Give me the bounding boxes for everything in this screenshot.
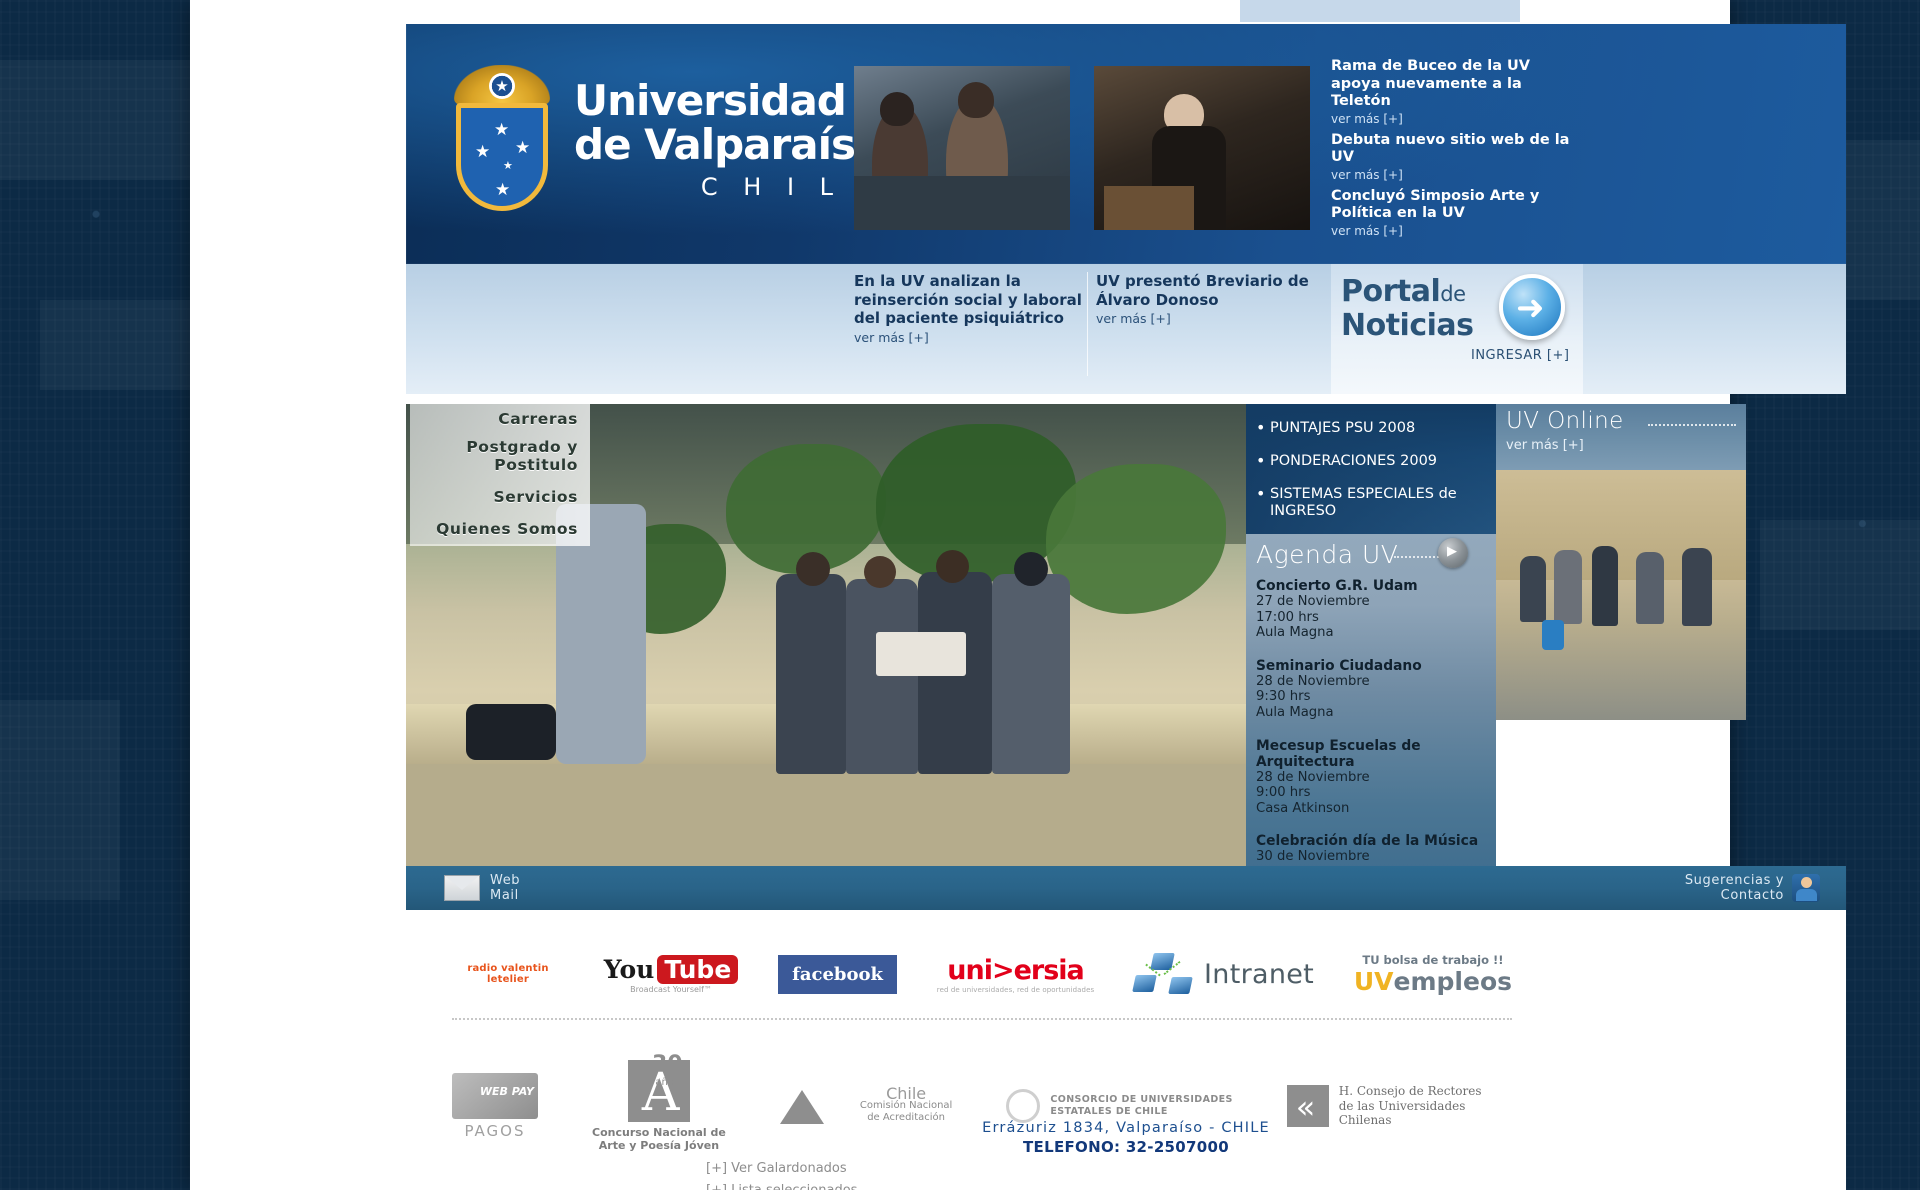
- consorcio-universidades-logo[interactable]: CONSORCIO DE UNIVERSIDADES ESTATALES DE …: [1006, 1089, 1232, 1123]
- uv-online-photo[interactable]: [1496, 470, 1746, 720]
- contact-line-1: Sugerencias y: [1685, 873, 1784, 888]
- arrow-right-icon[interactable]: [1499, 274, 1565, 340]
- webmail-line-1: Web: [490, 873, 520, 888]
- feature-title: En la UV analizan la reinserción social …: [854, 272, 1089, 328]
- event-place: Aula Magna: [1256, 705, 1486, 721]
- psu-links-panel: PUNTAJES PSU 2008 PONDERACIONES 2009 SIS…: [1246, 404, 1496, 534]
- hero-photo-students[interactable]: Carreras Postgrado y Postitulo Servicios…: [406, 404, 1246, 866]
- contact-line-2: Contacto: [1685, 888, 1784, 903]
- youtube-tube-text: Tube: [657, 955, 738, 984]
- event-place: Aula Magna: [1256, 625, 1486, 641]
- portal-title-de: de: [1440, 282, 1465, 306]
- intranet-label: Intranet: [1204, 959, 1314, 990]
- universia-wordmark: uni>ersia: [937, 955, 1094, 986]
- event-date: 28 de Noviembre: [1256, 674, 1486, 690]
- youtube-logo[interactable]: You Tube Broadcast Yourself™: [604, 955, 739, 994]
- rectores-caption-1: H. Consejo de Rectores: [1339, 1084, 1482, 1099]
- agenda-event[interactable]: Mecesup Escuelas de Arquitectura 28 de N…: [1246, 738, 1496, 817]
- uvempleos-empleos: empleos: [1394, 967, 1512, 996]
- nav-item-postgrado[interactable]: Postgrado y Postitulo: [410, 428, 590, 474]
- agenda-event[interactable]: Concierto G.R. Udam 27 de Noviembre 17:0…: [1246, 578, 1496, 641]
- uv-online-panel[interactable]: UV Online ver más [+]: [1496, 404, 1746, 470]
- feature-item-reinsercion[interactable]: En la UV analizan la reinserción social …: [854, 272, 1089, 345]
- cna-caption: Chile Comisión Nacional de Acreditación: [860, 1088, 953, 1124]
- event-date: 30 de Noviembre: [1256, 849, 1486, 865]
- radio-valentin-letelier-logo[interactable]: radio valentin letelier: [452, 952, 564, 996]
- nav-item-servicios[interactable]: Servicios: [410, 474, 590, 506]
- universia-logo[interactable]: uni>ersia red de universidades, red de o…: [937, 955, 1094, 994]
- phone-line: TELEFONO: 32-2507000: [406, 1138, 1846, 1156]
- radio-logo-text: radio valentin letelier: [452, 963, 564, 985]
- agenda-event[interactable]: Seminario Ciudadano 28 de Noviembre 9:30…: [1246, 658, 1496, 721]
- site-header: ★ ★ ★ ★ ★ Universidad de Valparaíso C H …: [406, 24, 1846, 290]
- agenda-header: Agenda UV: [1246, 534, 1496, 578]
- portal-title-main: Portal: [1341, 274, 1440, 309]
- headline-more-link[interactable]: ver más [+]: [1331, 112, 1581, 126]
- event-name: Seminario Ciudadano: [1256, 658, 1486, 674]
- site-page: ★ ★ ★ ★ ★ Universidad de Valparaíso C H …: [190, 0, 1730, 1190]
- header-photo-speaker[interactable]: [1094, 66, 1310, 230]
- network-icon: [1134, 953, 1192, 995]
- backdrop-block: [0, 700, 120, 900]
- feature-title: UV presentó Breviario de Álvaro Donoso: [1096, 272, 1331, 309]
- support-agent-icon: [1792, 874, 1820, 902]
- event-name: Mecesup Escuelas de Arquitectura: [1256, 738, 1486, 770]
- event-time: 9:30 hrs: [1256, 689, 1486, 705]
- address-line: Errázuriz 1834, Valparaíso - CHILE: [406, 1120, 1846, 1136]
- feature-more-link[interactable]: ver más [+]: [854, 330, 1089, 345]
- uvempleos-tagline: TU bolsa de trabajo !!: [1354, 953, 1512, 967]
- portal-noticias-panel[interactable]: Portalde Noticias INGRESAR [+]: [1331, 264, 1583, 394]
- youtube-you-text: You: [604, 955, 655, 984]
- webpay-icon: [452, 1073, 538, 1119]
- headline-item[interactable]: Concluyó Simposio Arte y Política en la …: [1331, 188, 1581, 238]
- uvempleos-logo[interactable]: TU bolsa de trabajo !! UVempleos: [1354, 953, 1512, 996]
- link-ver-galardonados[interactable]: [+] Ver Galardonados: [706, 1158, 857, 1180]
- headline-title: Rama de Buceo de la UV apoya nuevamente …: [1331, 58, 1581, 111]
- event-date: 27 de Noviembre: [1256, 594, 1486, 610]
- facebook-logo[interactable]: facebook: [778, 955, 897, 994]
- feature-more-link[interactable]: ver más [+]: [1096, 311, 1331, 326]
- webmail-line-2: Mail: [490, 888, 520, 903]
- headline-title: Debuta nuevo sitio web de la UV: [1331, 132, 1581, 167]
- partner-logo-row: radio valentin letelier You Tube Broadca…: [452, 952, 1512, 996]
- footer-divider-top: [452, 1018, 1512, 1020]
- consorcio-caption: CONSORCIO DE UNIVERSIDADES ESTATALES DE …: [1050, 1094, 1232, 1118]
- webmail-label: Web Mail: [490, 873, 520, 903]
- headline-list: Rama de Buceo de la UV apoya nuevamente …: [1331, 58, 1581, 244]
- event-date: 28 de Noviembre: [1256, 770, 1486, 786]
- concurso-anniversary-badge: 30 años: [652, 1056, 683, 1092]
- badge-sub: años: [652, 1074, 683, 1092]
- uv-online-more-link[interactable]: ver más [+]: [1506, 438, 1584, 453]
- logo-line-3: C H I L E: [574, 173, 883, 201]
- site-logo-text: Universidad de Valparaíso C H I L E: [574, 79, 883, 201]
- webmail-link[interactable]: Web Mail: [444, 866, 520, 910]
- portal-title: Portalde Noticias: [1341, 276, 1474, 341]
- portal-title-second: Noticias: [1341, 308, 1474, 343]
- psu-link-sistemas-especiales[interactable]: SISTEMAS ESPECIALES de INGRESO: [1256, 486, 1486, 520]
- footer-link-list: [+] Ver Galardonados [+] Lista seleccion…: [706, 1158, 857, 1190]
- play-icon[interactable]: [1438, 538, 1468, 568]
- headline-title: Concluyó Simposio Arte y Política en la …: [1331, 188, 1581, 223]
- footer-address: Errázuriz 1834, Valparaíso - CHILE TELEF…: [406, 1120, 1846, 1156]
- youtube-tagline: Broadcast Yourself™: [630, 985, 712, 994]
- uvempleos-wordmark: UVempleos: [1354, 967, 1512, 996]
- rectores-caption-2: de las Universidades: [1339, 1099, 1482, 1114]
- contact-link[interactable]: Sugerencias y Contacto: [1685, 866, 1820, 910]
- browser-tab-strip: [1240, 0, 1520, 22]
- psu-link-puntajes[interactable]: PUNTAJES PSU 2008: [1256, 420, 1486, 437]
- hero-ground: [406, 764, 1246, 866]
- envelope-icon: [444, 875, 480, 901]
- event-name: Celebración día de la Música: [1256, 833, 1486, 849]
- logo-line-2: de Valparaíso: [574, 123, 883, 167]
- main-content: Carreras Postgrado y Postitulo Servicios…: [406, 404, 1846, 866]
- primary-nav: Carreras Postgrado y Postitulo Servicios…: [410, 404, 590, 546]
- uv-online-title: UV Online: [1506, 408, 1624, 434]
- cna-caption-1: Chile: [860, 1088, 953, 1100]
- nav-item-carreras[interactable]: Carreras: [410, 404, 590, 428]
- backdrop-block: [40, 300, 190, 390]
- consorcio-caption-1: CONSORCIO DE UNIVERSIDADES: [1050, 1094, 1232, 1106]
- event-place: Casa Atkinson: [1256, 801, 1486, 817]
- headline-more-link[interactable]: ver más [+]: [1331, 168, 1581, 182]
- backdrop-block: [0, 60, 190, 180]
- link-lista-seleccionados[interactable]: [+] Lista seleccionados: [706, 1180, 857, 1190]
- intranet-logo[interactable]: Intranet: [1134, 953, 1314, 995]
- event-time: 17:00 hrs: [1256, 610, 1486, 626]
- uv-crest-icon: ★ ★ ★ ★ ★: [448, 65, 556, 215]
- uv-online-dot-rule: [1648, 424, 1736, 426]
- consorcio-mark-icon: [1006, 1089, 1040, 1123]
- headline-item[interactable]: Rama de Buceo de la UV apoya nuevamente …: [1331, 58, 1581, 126]
- nav-item-quienes-somos[interactable]: Quienes Somos: [410, 506, 590, 538]
- consorcio-caption-2: ESTATALES DE CHILE: [1050, 1106, 1232, 1118]
- universia-tagline: red de universidades, red de oportunidad…: [937, 986, 1094, 994]
- headline-more-link[interactable]: ver más [+]: [1331, 224, 1581, 238]
- headline-item[interactable]: Debuta nuevo sitio web de la UV ver más …: [1331, 132, 1581, 182]
- cna-caption-2: Comisión Nacional: [860, 1100, 953, 1112]
- header-photo-students[interactable]: [854, 66, 1070, 230]
- uvempleos-uv: UV: [1354, 967, 1394, 996]
- event-name: Concierto G.R. Udam: [1256, 578, 1486, 594]
- portal-enter-link[interactable]: INGRESAR [+]: [1471, 348, 1569, 363]
- logo-line-1: Universidad: [574, 79, 883, 123]
- event-time: 9:00 hrs: [1256, 785, 1486, 801]
- agenda-title: Agenda UV: [1256, 540, 1398, 569]
- feature-item-breviario[interactable]: UV presentó Breviario de Álvaro Donoso v…: [1096, 272, 1331, 326]
- utility-bar: Web Mail Sugerencias y Contacto: [406, 866, 1846, 910]
- contact-label: Sugerencias y Contacto: [1685, 873, 1784, 903]
- psu-link-ponderaciones[interactable]: PONDERACIONES 2009: [1256, 453, 1486, 470]
